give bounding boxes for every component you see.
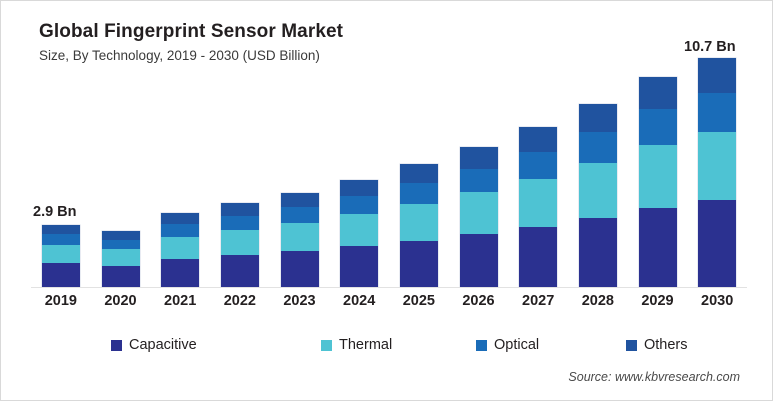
bar-segment-thermal-2020 xyxy=(102,249,140,266)
bar-segment-thermal-2026 xyxy=(460,192,498,234)
bar-segment-others-2022 xyxy=(221,203,259,216)
x-tick-2027: 2027 xyxy=(510,293,566,309)
bar-segment-optical-2030 xyxy=(698,93,736,132)
bar-segment-thermal-2021 xyxy=(161,237,199,259)
legend-label-thermal: Thermal xyxy=(339,337,392,353)
x-tick-2030: 2030 xyxy=(689,293,745,309)
chart-title: Global Fingerprint Sensor Market xyxy=(39,21,343,43)
source-note: Source: www.kbvresearch.com xyxy=(568,370,740,384)
bar-segment-optical-2028 xyxy=(579,132,617,163)
bar-2024[interactable] xyxy=(340,180,378,287)
bar-segment-others-2024 xyxy=(340,180,378,196)
bar-2025[interactable] xyxy=(400,164,438,287)
bar-segment-capacitive-2028 xyxy=(579,218,617,287)
bar-2023[interactable] xyxy=(281,193,319,287)
bar-segment-others-2029 xyxy=(639,77,677,109)
bar-segment-optical-2029 xyxy=(639,109,677,145)
bar-segment-capacitive-2025 xyxy=(400,241,438,287)
bar-segment-thermal-2025 xyxy=(400,204,438,241)
bar-segment-thermal-2028 xyxy=(579,163,617,218)
bar-segment-others-2021 xyxy=(161,213,199,224)
bar-segment-others-2020 xyxy=(102,231,140,240)
bar-segment-optical-2019 xyxy=(42,234,80,244)
legend-label-others: Others xyxy=(644,337,688,353)
plot-area xyxy=(31,41,746,287)
chart-figure: Global Fingerprint Sensor Market Size, B… xyxy=(0,0,773,401)
value-callout-last: 10.7 Bn xyxy=(684,39,736,55)
legend-swatch-others-icon xyxy=(626,340,637,351)
legend-item-others[interactable]: Others xyxy=(626,337,688,353)
bar-segment-capacitive-2030 xyxy=(698,200,736,287)
bar-segment-thermal-2030 xyxy=(698,132,736,201)
axis-baseline xyxy=(31,287,747,288)
bar-segment-thermal-2019 xyxy=(42,245,80,264)
x-tick-2028: 2028 xyxy=(570,293,626,309)
bar-segment-others-2025 xyxy=(400,164,438,183)
x-tick-2026: 2026 xyxy=(451,293,507,309)
legend-item-capacitive[interactable]: Capacitive xyxy=(111,337,197,353)
bar-segment-others-2023 xyxy=(281,193,319,207)
bar-segment-thermal-2023 xyxy=(281,223,319,251)
legend-item-thermal[interactable]: Thermal xyxy=(321,337,392,353)
x-axis: 2019202020212022202320242025202620272028… xyxy=(31,293,747,315)
bar-segment-others-2030 xyxy=(698,58,736,93)
legend-label-optical: Optical xyxy=(494,337,539,353)
bar-segment-capacitive-2027 xyxy=(519,227,557,287)
bar-segment-optical-2023 xyxy=(281,207,319,223)
x-tick-2025: 2025 xyxy=(391,293,447,309)
bar-2020[interactable] xyxy=(102,231,140,287)
bar-segment-thermal-2027 xyxy=(519,179,557,227)
x-tick-2020: 2020 xyxy=(93,293,149,309)
bar-2029[interactable] xyxy=(639,77,677,287)
bar-2030[interactable] xyxy=(698,58,736,287)
bar-segment-capacitive-2021 xyxy=(161,259,199,287)
value-callout-first: 2.9 Bn xyxy=(33,204,77,220)
bar-2022[interactable] xyxy=(221,203,259,287)
bar-segment-capacitive-2022 xyxy=(221,255,259,287)
bar-segment-thermal-2022 xyxy=(221,230,259,255)
x-tick-2023: 2023 xyxy=(272,293,328,309)
bar-segment-capacitive-2020 xyxy=(102,266,140,287)
legend-swatch-capacitive-icon xyxy=(111,340,122,351)
x-tick-2019: 2019 xyxy=(33,293,89,309)
legend-item-optical[interactable]: Optical xyxy=(476,337,539,353)
bar-segment-others-2027 xyxy=(519,127,557,151)
legend-swatch-thermal-icon xyxy=(321,340,332,351)
bar-segment-optical-2022 xyxy=(221,216,259,230)
bar-segment-others-2019 xyxy=(42,225,80,234)
bar-segment-capacitive-2029 xyxy=(639,208,677,287)
bar-2026[interactable] xyxy=(460,147,498,287)
legend-label-capacitive: Capacitive xyxy=(129,337,197,353)
bar-segment-optical-2020 xyxy=(102,240,140,249)
bar-segment-optical-2021 xyxy=(161,224,199,237)
bar-segment-capacitive-2019 xyxy=(42,263,80,287)
bar-2021[interactable] xyxy=(161,213,199,287)
bar-segment-optical-2027 xyxy=(519,152,557,179)
bar-segment-others-2028 xyxy=(579,104,617,132)
bar-segment-thermal-2029 xyxy=(639,145,677,208)
x-tick-2029: 2029 xyxy=(630,293,686,309)
x-tick-2024: 2024 xyxy=(331,293,387,309)
x-tick-2022: 2022 xyxy=(212,293,268,309)
x-tick-2021: 2021 xyxy=(152,293,208,309)
bar-segment-others-2026 xyxy=(460,147,498,168)
bar-2027[interactable] xyxy=(519,127,557,287)
bar-2019[interactable] xyxy=(42,225,80,287)
bar-segment-optical-2025 xyxy=(400,183,438,204)
bar-segment-optical-2026 xyxy=(460,169,498,193)
bar-segment-thermal-2024 xyxy=(340,214,378,246)
bar-2028[interactable] xyxy=(579,104,617,287)
legend-swatch-optical-icon xyxy=(476,340,487,351)
bar-segment-capacitive-2024 xyxy=(340,246,378,287)
bar-segment-capacitive-2026 xyxy=(460,234,498,287)
bar-segment-capacitive-2023 xyxy=(281,251,319,287)
chart-legend: CapacitiveThermalOpticalOthers xyxy=(31,337,747,361)
bar-segment-optical-2024 xyxy=(340,196,378,214)
